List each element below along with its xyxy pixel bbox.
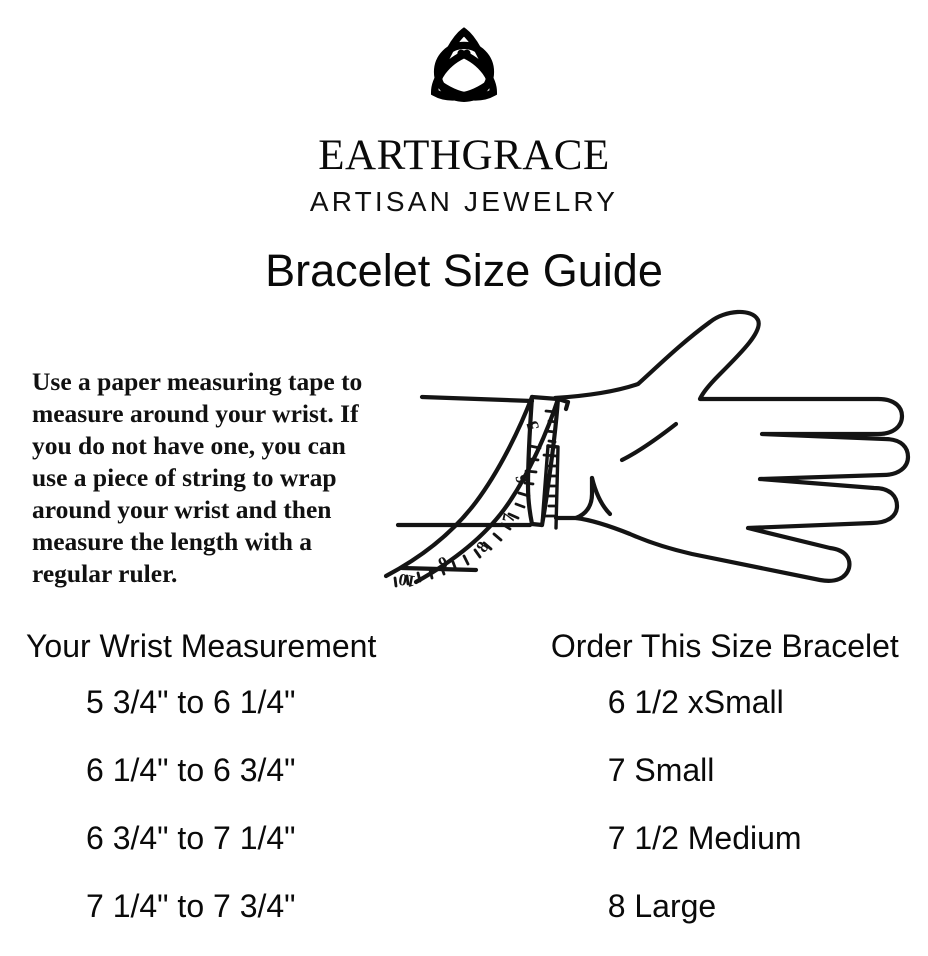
brand-tagline: ARTISAN JEWELRY [0,186,928,218]
column-header-bracelet-size: Order This Size Bracelet [551,628,899,664]
bracelet-size-value: 7 Small [608,752,715,788]
brand-header: EarthGrace ARTISAN JEWELRY [0,22,928,218]
wrist-measurement-value: 7 1/4" to 7 3/4" [86,888,296,924]
tape-label-8: 8 [472,538,492,556]
page-title: Bracelet Size Guide [0,245,928,297]
bracelet-size-value: 6 1/2 xSmall [608,684,784,720]
triquetra-celtic-knot-icon [405,22,523,112]
wrist-measurement-value: 5 3/4" to 6 1/4" [86,684,296,720]
column-header-wrist-measurement: Your Wrist Measurement [26,628,376,664]
wrist-measurement-value: 6 3/4" to 7 1/4" [86,820,296,856]
table-row: 6 3/4" to 7 1/4" 7 1/2 Medium [0,820,928,888]
table-row: 6 1/4" to 6 3/4" 7 Small [0,752,928,820]
instructions-paragraph: Use a paper measuring tape to measure ar… [32,366,382,590]
wrist-measurement-value: 6 1/4" to 6 3/4" [86,752,296,788]
brand-wordmark: EarthGrace [0,122,928,178]
bracelet-size-value: 8 Large [608,888,717,924]
tape-label-10: 10 [397,570,417,592]
bracelet-size-value: 7 1/2 Medium [608,820,802,856]
tape-label-5: 5 [522,419,543,432]
table-header-row: Your Wrist Measurement Order This Size B… [0,628,928,684]
table-row: 5 3/4" to 6 1/4" 6 1/2 xSmall [0,684,928,752]
size-table: Your Wrist Measurement Order This Size B… [0,628,928,956]
hand-with-measuring-tape-illustration: 5 6 7 8 9 10 [380,300,928,610]
